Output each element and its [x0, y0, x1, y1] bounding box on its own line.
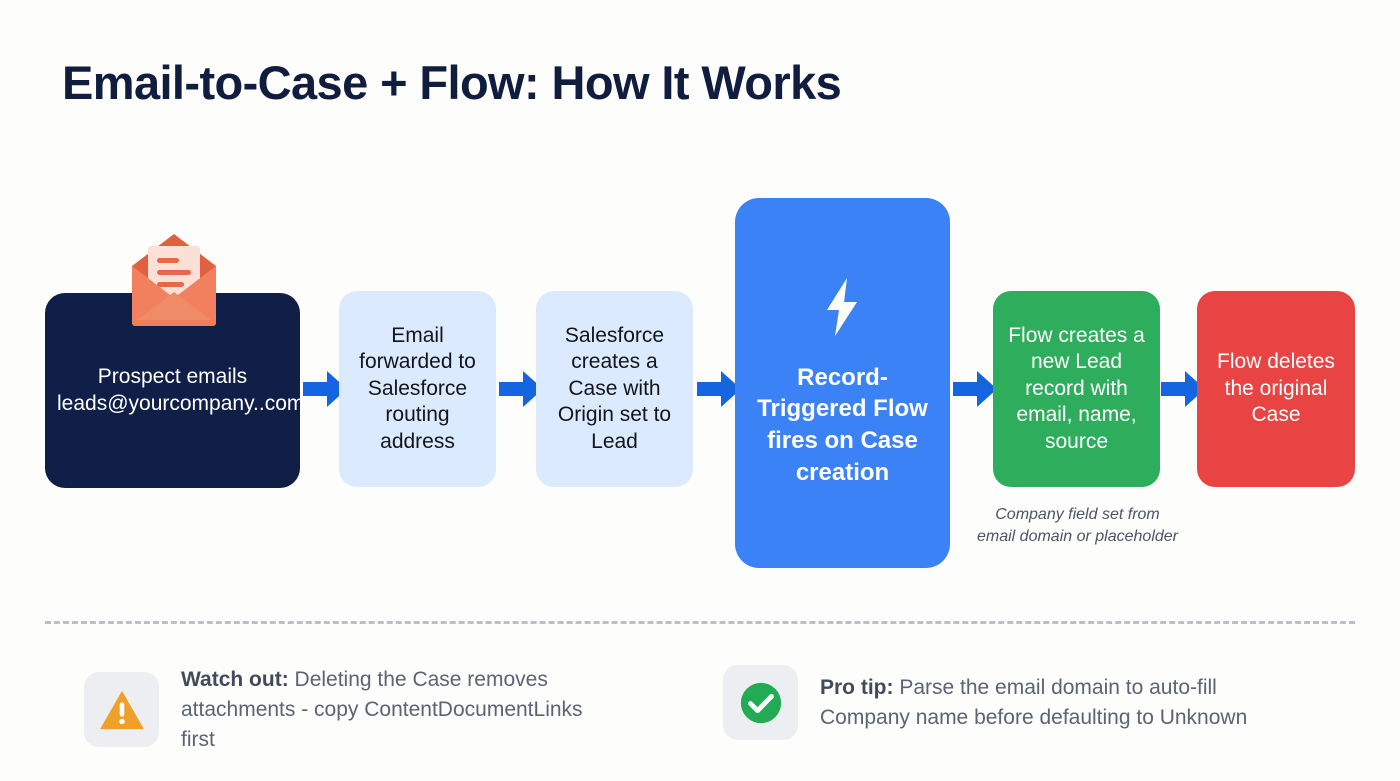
flow-node-case-deleted[interactable]: Flow deletes the original Case — [1197, 291, 1355, 487]
flow-node-label: Record-Triggered Flow fires on Case crea… — [747, 362, 938, 489]
note-lead: Pro tip: — [820, 676, 894, 699]
flow-arrow — [953, 369, 997, 409]
warning-triangle-icon — [84, 672, 159, 747]
flow-node-label: Flow creates a new Lead record with emai… — [1005, 323, 1148, 455]
flow-node-label: Email forwarded to Salesforce routing ad… — [351, 323, 484, 455]
flow-node-lead-created[interactable]: Flow creates a new Lead record with emai… — [993, 291, 1160, 487]
note-watch-out: Watch out: Deleting the Case removes att… — [84, 665, 611, 754]
envelope-icon — [124, 232, 224, 330]
lightning-bolt-icon — [823, 278, 863, 344]
section-divider — [45, 621, 1355, 624]
page-title: Email-to-Case + Flow: How It Works — [62, 55, 841, 110]
flow-node-label: Flow deletes the original Case — [1209, 349, 1343, 428]
flow-node-label: Salesforce creates a Case with Origin se… — [548, 323, 681, 455]
flow-node-caption: Company field set from email domain or p… — [975, 504, 1180, 548]
flow-node-label: Prospect emails leads@yourcompany..com — [57, 364, 288, 417]
flow-node-case-created[interactable]: Salesforce creates a Case with Origin se… — [536, 291, 693, 487]
note-pro-tip: Pro tip: Parse the email domain to auto-… — [723, 665, 1250, 740]
check-circle-icon — [723, 665, 798, 740]
infographic-page: Email-to-Case + Flow: How It Works Prosp… — [0, 0, 1400, 781]
flow-node-flow-fires[interactable]: Record-Triggered Flow fires on Case crea… — [735, 198, 950, 568]
note-text: Watch out: Deleting the Case removes att… — [181, 665, 611, 754]
note-text: Pro tip: Parse the email domain to auto-… — [820, 673, 1250, 733]
note-lead: Watch out: — [181, 668, 289, 691]
flow-node-email-forwarded[interactable]: Email forwarded to Salesforce routing ad… — [339, 291, 496, 487]
